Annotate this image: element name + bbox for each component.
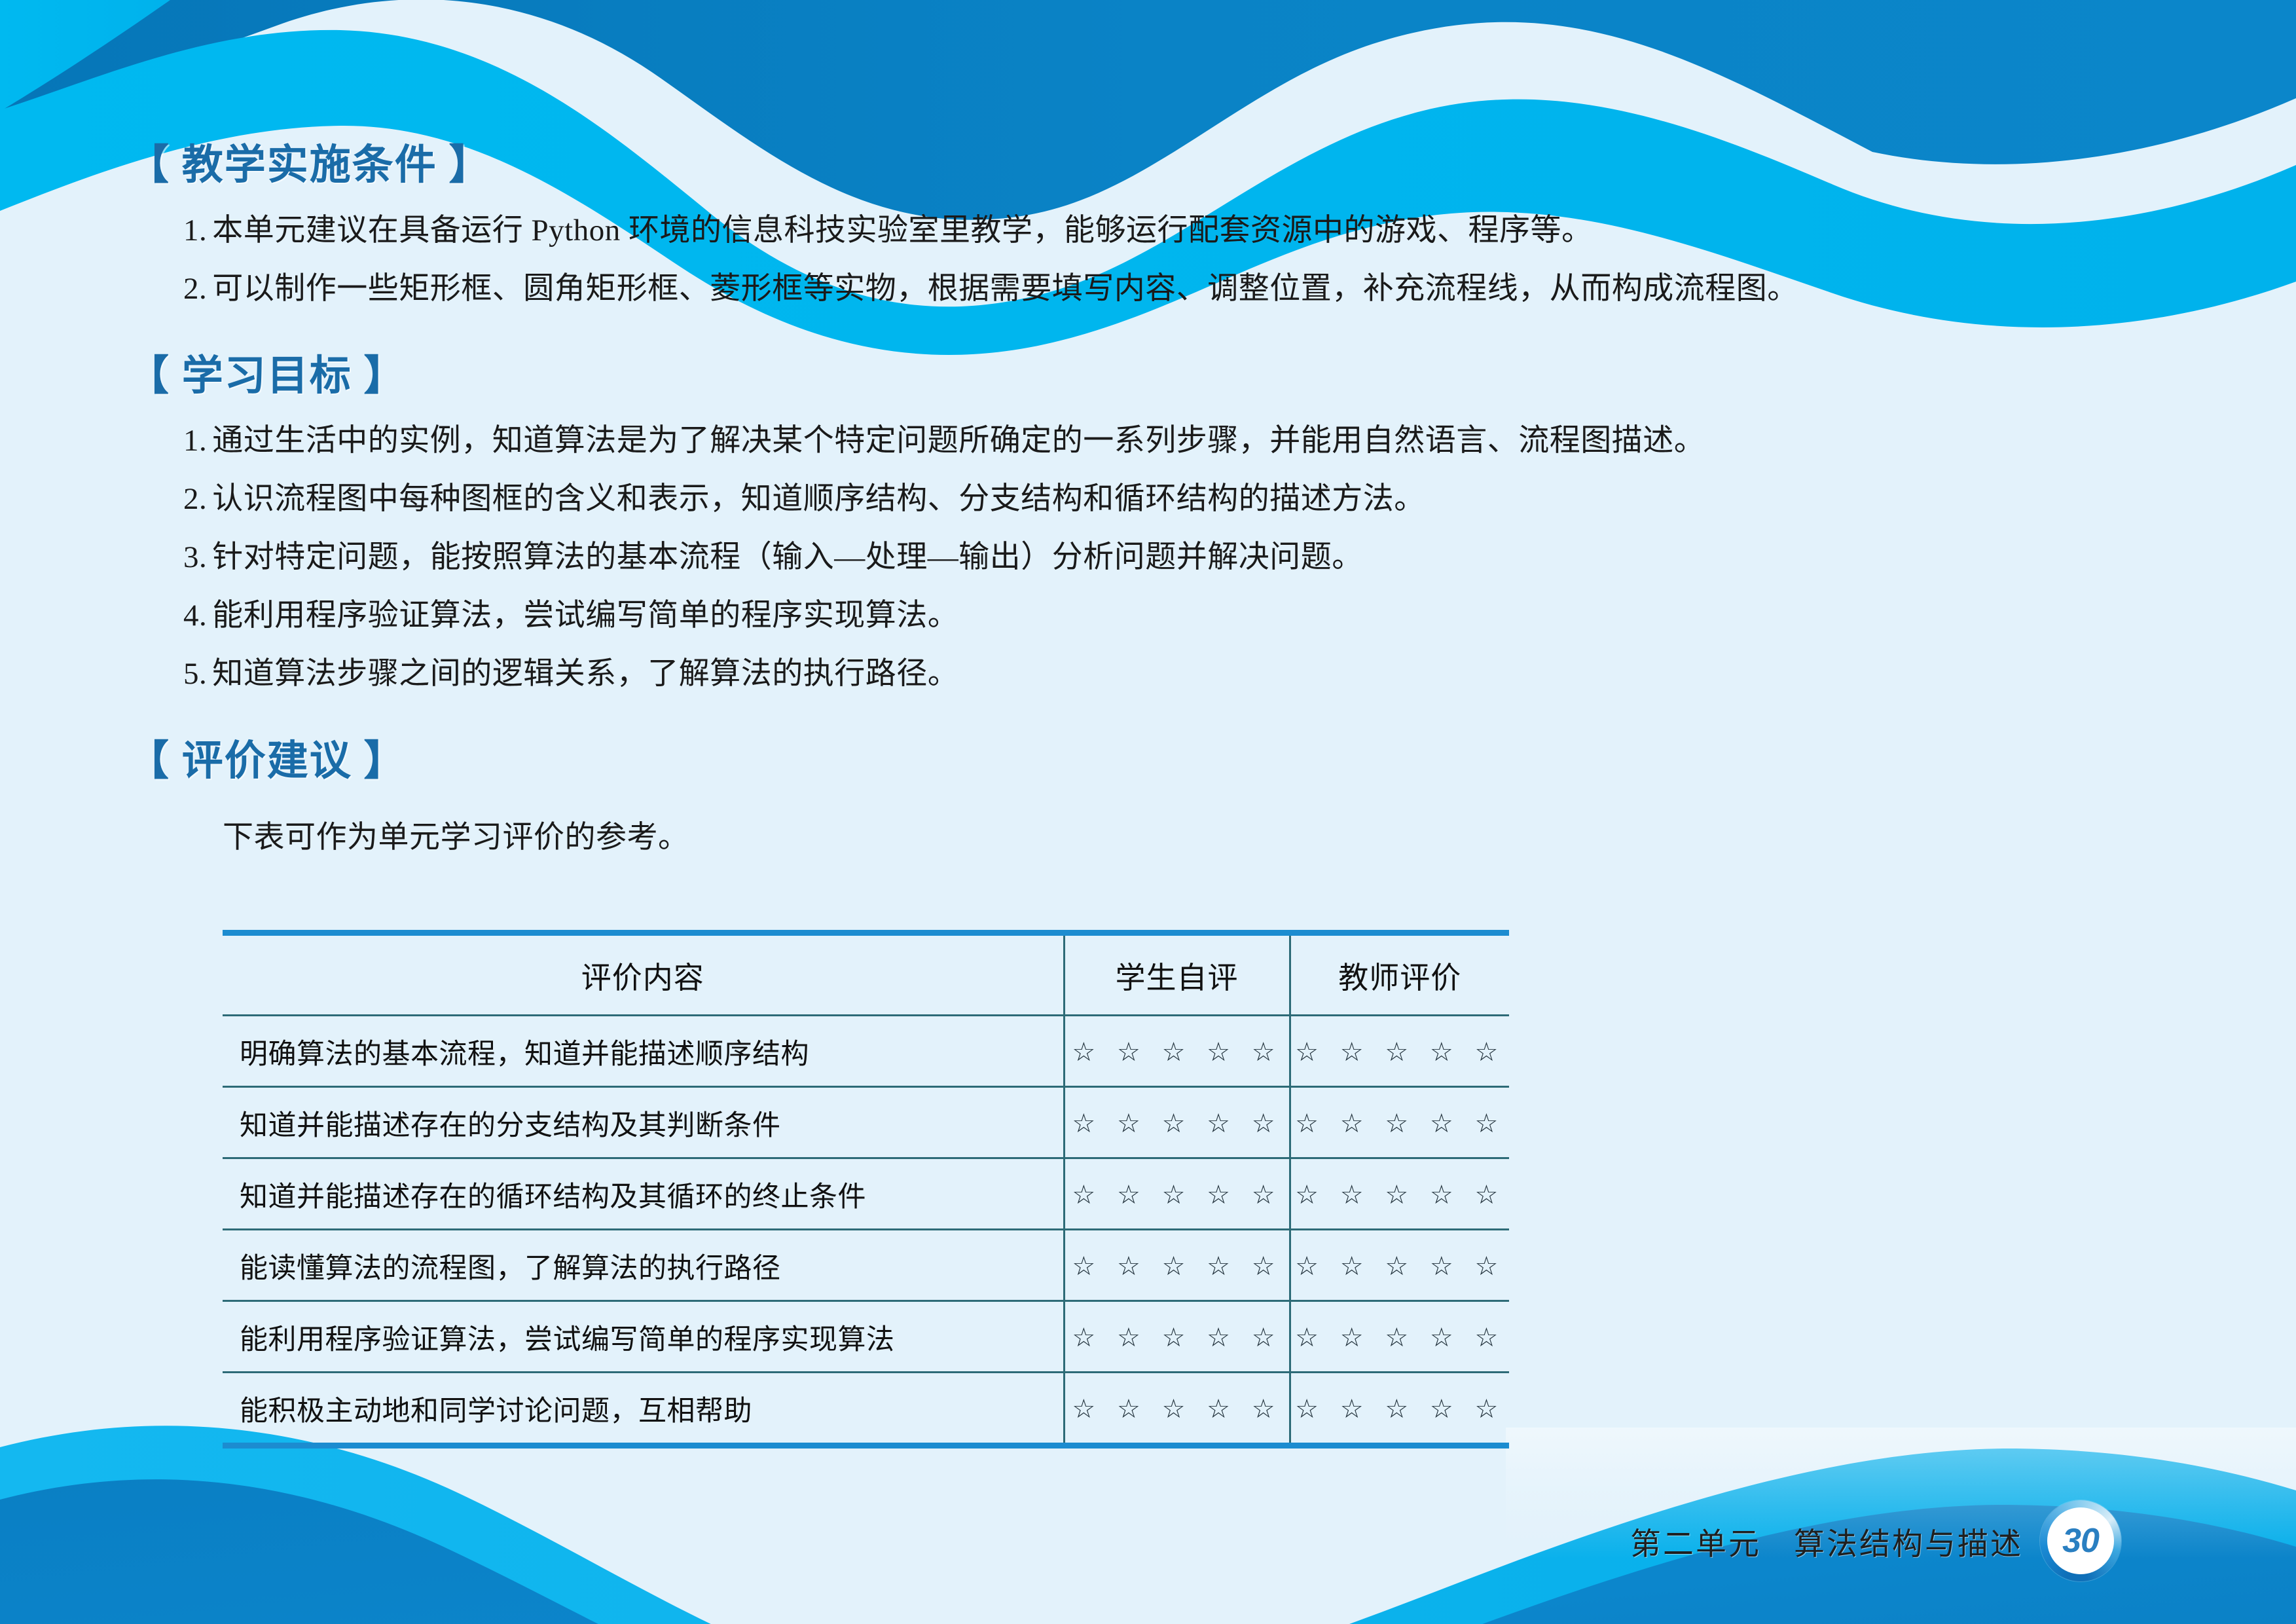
- list-item-text: 通过生活中的实例，知道算法是为了解决某个特定问题所确定的一系列步骤，并能用自然语…: [212, 426, 1705, 456]
- footer-unit-label: 第二单元 算法结构与描述: [1630, 1519, 2023, 1564]
- table-row: 知道并能描述存在的分支结构及其判断条件 ☆ ☆ ☆ ☆ ☆ ☆ ☆ ☆ ☆ ☆: [223, 1087, 1509, 1158]
- list-item-text: 可以制作一些矩形框、圆角矩形框、菱形框等实物，根据需要填写内容、调整位置，补充流…: [212, 274, 1798, 304]
- table-row: 明确算法的基本流程，知道并能描述顺序结构 ☆ ☆ ☆ ☆ ☆ ☆ ☆ ☆ ☆ ☆: [223, 1016, 1509, 1087]
- assessment-item-text: 能利用程序验证算法，尝试编写简单的程序实现算法: [223, 1301, 1064, 1373]
- list-item: 5. 知道算法步骤之间的逻辑关系，了解算法的执行路径。: [183, 659, 2170, 690]
- assessment-item-text: 明确算法的基本流程，知道并能描述顺序结构: [223, 1016, 1064, 1087]
- list-item-text: 能利用程序验证算法，尝试编写简单的程序实现算法。: [212, 600, 958, 631]
- section-heading-learning-objectives: 【 学习目标 】: [128, 352, 2170, 401]
- list-item-number: 3.: [183, 542, 207, 573]
- list-item: 2. 可以制作一些矩形框、圆角矩形框、菱形框等实物，根据需要填写内容、调整位置，…: [183, 274, 2170, 304]
- teacher-rating-cell[interactable]: ☆ ☆ ☆ ☆ ☆: [1290, 1158, 1509, 1230]
- table-row: 能积极主动地和同学讨论问题，互相帮助 ☆ ☆ ☆ ☆ ☆ ☆ ☆ ☆ ☆ ☆: [223, 1373, 1509, 1446]
- list-item-text: 知道算法步骤之间的逻辑关系，了解算法的执行路径。: [212, 659, 958, 690]
- star-rating[interactable]: ☆ ☆ ☆ ☆ ☆: [1072, 1111, 1281, 1137]
- teacher-rating-cell[interactable]: ☆ ☆ ☆ ☆ ☆: [1290, 1230, 1509, 1301]
- teacher-rating-cell[interactable]: ☆ ☆ ☆ ☆ ☆: [1290, 1373, 1509, 1446]
- table-header-row: 评价内容 学生自评 教师评价: [223, 933, 1509, 1016]
- page-footer: 第二单元 算法结构与描述 30: [1630, 1498, 2246, 1583]
- table-row: 能利用程序验证算法，尝试编写简单的程序实现算法 ☆ ☆ ☆ ☆ ☆ ☆ ☆ ☆ …: [223, 1301, 1509, 1373]
- teaching-conditions-list: 1. 本单元建议在具备运行 Python 环境的信息科技实验室里教学，能够运行配…: [128, 215, 2170, 304]
- table-row: 知道并能描述存在的循环结构及其循环的终止条件 ☆ ☆ ☆ ☆ ☆ ☆ ☆ ☆ ☆…: [223, 1158, 1509, 1230]
- content-column: 【 教学实施条件 】 1. 本单元建议在具备运行 Python 环境的信息科技实…: [128, 141, 2170, 857]
- list-item: 2. 认识流程图中每种图框的含义和表示，知道顺序结构、分支结构和循环结构的描述方…: [183, 484, 2170, 515]
- star-rating[interactable]: ☆ ☆ ☆ ☆ ☆: [1072, 1039, 1281, 1065]
- self-rating-cell[interactable]: ☆ ☆ ☆ ☆ ☆: [1064, 1087, 1290, 1158]
- star-rating[interactable]: ☆ ☆ ☆ ☆ ☆: [1072, 1396, 1281, 1422]
- self-rating-cell[interactable]: ☆ ☆ ☆ ☆ ☆: [1064, 1301, 1290, 1373]
- assessment-item-text: 知道并能描述存在的循环结构及其循环的终止条件: [223, 1158, 1064, 1230]
- list-item: 3. 针对特定问题，能按照算法的基本流程（输入—处理—输出）分析问题并解决问题。: [183, 542, 2170, 573]
- list-item: 1. 本单元建议在具备运行 Python 环境的信息科技实验室里教学，能够运行配…: [183, 215, 2170, 246]
- assessment-item-text: 能积极主动地和同学讨论问题，互相帮助: [223, 1373, 1064, 1446]
- star-rating[interactable]: ☆ ☆ ☆ ☆ ☆: [1295, 1182, 1504, 1208]
- section-heading-teaching-conditions: 【 教学实施条件 】: [128, 141, 2170, 191]
- star-rating[interactable]: ☆ ☆ ☆ ☆ ☆: [1072, 1325, 1281, 1351]
- self-rating-cell[interactable]: ☆ ☆ ☆ ☆ ☆: [1064, 1230, 1290, 1301]
- star-rating[interactable]: ☆ ☆ ☆ ☆ ☆: [1072, 1253, 1281, 1280]
- list-item: 1. 通过生活中的实例，知道算法是为了解决某个特定问题所确定的一系列步骤，并能用…: [183, 426, 2170, 456]
- page-number-badge: 30: [2040, 1500, 2121, 1581]
- section-heading-assessment-suggestions: 【 评价建议 】: [128, 737, 2170, 786]
- column-header-content: 评价内容: [223, 933, 1064, 1016]
- star-rating[interactable]: ☆ ☆ ☆ ☆ ☆: [1295, 1039, 1504, 1065]
- table-row: 能读懂算法的流程图，了解算法的执行路径 ☆ ☆ ☆ ☆ ☆ ☆ ☆ ☆ ☆ ☆: [223, 1230, 1509, 1301]
- star-rating[interactable]: ☆ ☆ ☆ ☆ ☆: [1072, 1182, 1281, 1208]
- teacher-rating-cell[interactable]: ☆ ☆ ☆ ☆ ☆: [1290, 1301, 1509, 1373]
- list-item-number: 5.: [183, 659, 207, 690]
- list-item-number: 4.: [183, 600, 207, 631]
- self-rating-cell[interactable]: ☆ ☆ ☆ ☆ ☆: [1064, 1373, 1290, 1446]
- list-item-text: 认识流程图中每种图框的含义和表示，知道顺序结构、分支结构和循环结构的描述方法。: [212, 484, 1425, 515]
- star-rating[interactable]: ☆ ☆ ☆ ☆ ☆: [1295, 1111, 1504, 1137]
- section-learning-objectives: 【 学习目标 】 1. 通过生活中的实例，知道算法是为了解决某个特定问题所确定的…: [128, 352, 2170, 690]
- list-item: 4. 能利用程序验证算法，尝试编写简单的程序实现算法。: [183, 600, 2170, 631]
- section-assessment-suggestions: 【 评价建议 】 下表可作为单元学习评价的参考。: [128, 737, 2170, 857]
- learning-objectives-list: 1. 通过生活中的实例，知道算法是为了解决某个特定问题所确定的一系列步骤，并能用…: [128, 426, 2170, 690]
- assessment-intro-text: 下表可作为单元学习评价的参考。: [223, 811, 2170, 857]
- assessment-item-text: 知道并能描述存在的分支结构及其判断条件: [223, 1087, 1064, 1158]
- assessment-item-text: 能读懂算法的流程图，了解算法的执行路径: [223, 1230, 1064, 1301]
- page-number: 30: [2062, 1521, 2099, 1560]
- star-rating[interactable]: ☆ ☆ ☆ ☆ ☆: [1295, 1325, 1504, 1351]
- section-teaching-conditions: 【 教学实施条件 】 1. 本单元建议在具备运行 Python 环境的信息科技实…: [128, 141, 2170, 304]
- column-header-teacher-assessment: 教师评价: [1290, 933, 1509, 1016]
- teacher-rating-cell[interactable]: ☆ ☆ ☆ ☆ ☆: [1290, 1087, 1509, 1158]
- page-body: 【 教学实施条件 】 1. 本单元建议在具备运行 Python 环境的信息科技实…: [0, 0, 2296, 1624]
- self-rating-cell[interactable]: ☆ ☆ ☆ ☆ ☆: [1064, 1016, 1290, 1087]
- assessment-table: 评价内容 学生自评 教师评价 明确算法的基本流程，知道并能描述顺序结构 ☆ ☆ …: [223, 930, 1509, 1449]
- teacher-rating-cell[interactable]: ☆ ☆ ☆ ☆ ☆: [1290, 1016, 1509, 1087]
- assessment-table-container: 评价内容 学生自评 教师评价 明确算法的基本流程，知道并能描述顺序结构 ☆ ☆ …: [223, 930, 1509, 1449]
- list-item-number: 2.: [183, 484, 207, 515]
- star-rating[interactable]: ☆ ☆ ☆ ☆ ☆: [1295, 1396, 1504, 1422]
- column-header-self-assessment: 学生自评: [1064, 933, 1290, 1016]
- star-rating[interactable]: ☆ ☆ ☆ ☆ ☆: [1295, 1253, 1504, 1280]
- list-item-number: 1.: [183, 215, 207, 246]
- self-rating-cell[interactable]: ☆ ☆ ☆ ☆ ☆: [1064, 1158, 1290, 1230]
- list-item-number: 2.: [183, 274, 207, 304]
- list-item-text: 本单元建议在具备运行 Python 环境的信息科技实验室里教学，能够运行配套资源…: [212, 215, 1592, 246]
- list-item-number: 1.: [183, 426, 207, 456]
- list-item-text: 针对特定问题，能按照算法的基本流程（输入—处理—输出）分析问题并解决问题。: [212, 542, 1363, 573]
